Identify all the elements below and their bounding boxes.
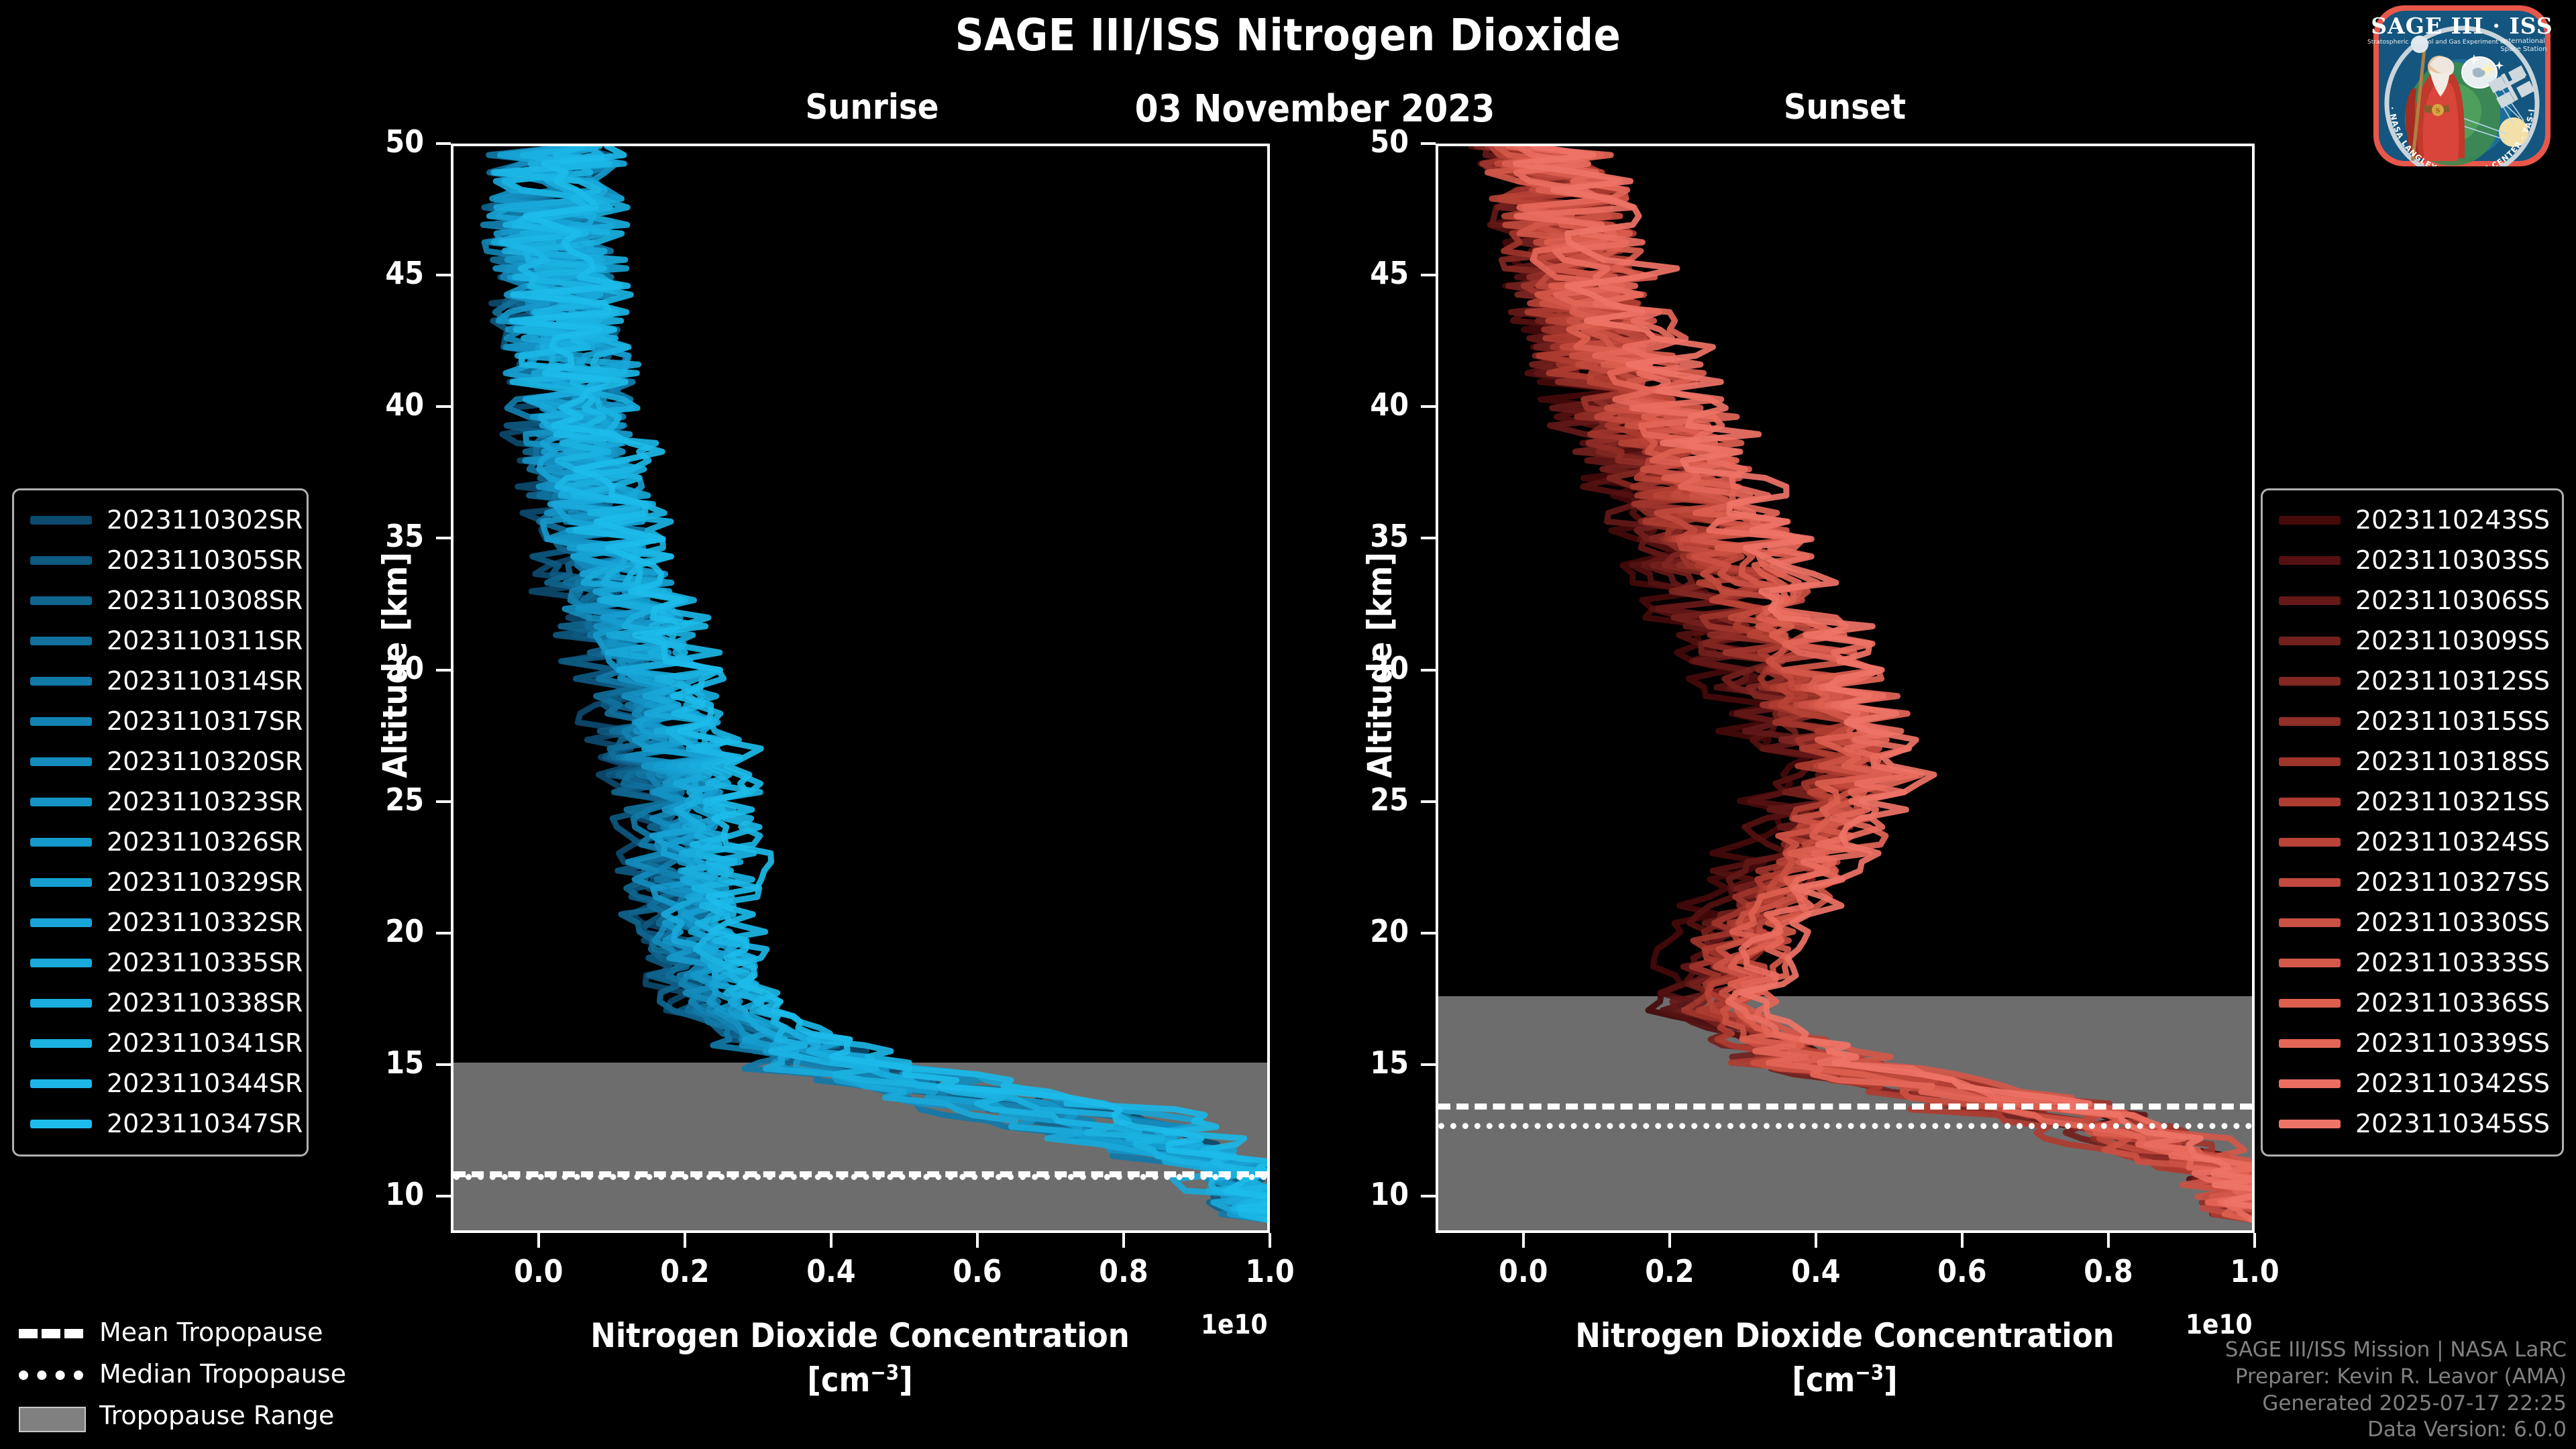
x-axis-tick [1961,1233,1964,1248]
tropopause-range-swatch-icon [19,1407,83,1424]
legend-event-label: 2023110347SR [107,1109,303,1138]
mean-tropopause-dash-icon [19,1324,83,1341]
legend-item-sunrise-event[interactable]: 2023110317SR [25,701,296,741]
y-axis-tick-label: 50 [1308,123,1409,160]
y-axis-tick [1421,142,1436,145]
legend-item-sunrise-event[interactable]: 2023110347SR [25,1104,296,1144]
svg-text:S: S [2436,108,2440,115]
y-axis-tick [436,932,451,934]
legend-color-swatch [30,757,92,766]
legend-color-swatch [2279,999,2341,1008]
sunset-x-axis-title: Nitrogen Dioxide Concentration [1442,1316,2247,1355]
y-axis-tick-label: 40 [323,386,424,423]
y-axis-tick [436,669,451,672]
y-axis-tick-label: 40 [1308,386,1409,423]
legend-item-sunset-event[interactable]: 2023110306SS [2273,580,2551,621]
legend-item-sunset-event[interactable]: 2023110318SS [2273,741,2551,782]
sunset-event-legend[interactable]: 2023110243SS2023110303SS2023110306SS2023… [2261,488,2564,1157]
legend-event-label: 2023110317SR [107,706,303,736]
legend-color-swatch [30,637,92,645]
legend-item-sunrise-event[interactable]: 2023110320SR [25,741,296,782]
legend-color-swatch [2279,556,2341,565]
y-axis-tick-label: 15 [1308,1044,1409,1081]
y-axis-tick-label: 35 [1308,518,1409,554]
legend-color-swatch [30,1079,92,1088]
patch-title: SAGE III · ISS [2371,13,2553,39]
x-axis-tick-label: 0.8 [1070,1253,1177,1289]
legend-color-swatch [30,798,92,806]
legend-event-label: 2023110330SS [2355,908,2550,937]
legend-event-label: 2023110333SS [2355,948,2550,977]
y-axis-tick [436,537,451,539]
sunrise-x-axis-unit: [cm−3] [458,1360,1263,1399]
legend-event-label: 2023110341SR [107,1028,303,1058]
legend-event-label: 2023110323SR [107,787,303,816]
legend-event-label: 2023110312SS [2355,666,2550,696]
legend-item-tropopause-range[interactable]: Tropopause Range [12,1395,428,1436]
legend-color-swatch [30,556,92,565]
sunrise-x-axis-title: Nitrogen Dioxide Concentration [458,1316,1263,1355]
legend-item-sunrise-event[interactable]: 2023110332SR [25,902,296,943]
y-axis-tick [1421,405,1436,408]
x-axis-tick [1122,1233,1125,1248]
legend-item-sunset-event[interactable]: 2023110327SS [2273,862,2551,902]
legend-item-sunrise-event[interactable]: 2023110323SR [25,782,296,822]
legend-item-median-tropopause[interactable]: Median Tropopause [12,1353,428,1395]
x-axis-tick-label: 0.6 [924,1253,1031,1289]
legend-item-sunrise-event[interactable]: 2023110326SR [25,822,296,862]
sunrise-y-axis-title: Altitude [km] [376,552,415,778]
legend-item-sunrise-event[interactable]: 2023110344SR [25,1063,296,1104]
legend-color-swatch [2279,1039,2341,1048]
y-axis-tick-label: 50 [323,123,424,160]
x-axis-tick [1668,1233,1671,1248]
x-axis-tick [2107,1233,2110,1248]
legend-item-sunset-event[interactable]: 2023110330SS [2273,902,2551,943]
legend-color-swatch [2279,717,2341,726]
x-axis-tick-label: 0.8 [2055,1253,2162,1289]
y-axis-tick [436,1063,451,1066]
legend-event-label: 2023110303SS [2355,545,2550,575]
legend-event-label: 2023110320SR [107,747,303,776]
sunset-x-axis-offset: 1e10 [2186,1309,2253,1340]
legend-event-label: 2023110302SR [107,505,303,535]
legend-color-swatch [30,838,92,847]
legend-event-label: 2023110342SS [2355,1069,2550,1098]
sunrise-x-axis-offset: 1e10 [1201,1309,1268,1340]
y-axis-tick-label: 20 [323,913,424,949]
legend-label-median-tropopause: Median Tropopause [99,1359,346,1389]
credit-line-generated: Generated 2025-07-17 22:25 [2225,1391,2567,1417]
legend-color-swatch [2279,959,2341,967]
legend-item-sunset-event[interactable]: 2023110339SS [2273,1023,2551,1063]
legend-color-swatch [30,1120,92,1128]
x-axis-tick [1815,1233,1817,1248]
legend-event-label: 2023110321SS [2355,787,2550,816]
legend-item-sunrise-event[interactable]: 2023110302SR [25,500,296,540]
legend-color-swatch [2279,677,2341,686]
legend-color-swatch [2279,757,2341,766]
y-axis-tick [436,405,451,408]
y-axis-tick-label: 10 [323,1176,424,1212]
y-axis-tick [1421,932,1436,934]
x-axis-tick [976,1233,979,1248]
sunrise-median-tropopause-line [453,1174,1267,1180]
legend-color-swatch [30,878,92,887]
x-axis-tick [1269,1233,1271,1248]
legend-color-swatch [2279,516,2341,525]
y-axis-tick-label: 25 [1308,782,1409,818]
legend-color-swatch [30,596,92,605]
legend-event-label: 2023110311SR [107,626,303,655]
x-axis-tick [537,1233,540,1248]
legend-item-sunrise-event[interactable]: 2023110314SR [25,661,296,701]
sunset-panel-title: Sunset [1704,87,1986,127]
y-axis-tick [436,1195,451,1197]
x-axis-tick-label: 0.4 [777,1253,885,1289]
legend-color-swatch [30,717,92,726]
credits-block: SAGE III/ISS Mission | NASA LaRC Prepare… [2225,1337,2567,1444]
legend-event-label: 2023110339SS [2355,1028,2550,1058]
sunset-plot-area [1438,146,2252,1230]
legend-color-swatch [30,918,92,927]
legend-event-label: 2023110345SS [2355,1109,2550,1138]
sunrise-plot-area [453,146,1267,1230]
sage-iii-iss-mission-patch-logo: S BALL · NASA LANGLEY RESEARCH CENTER · … [2355,3,2569,167]
legend-event-label: 2023110308SR [107,586,303,615]
legend-color-swatch [2279,878,2341,887]
legend-item-mean-tropopause[interactable]: Mean Tropopause [12,1311,428,1353]
y-axis-tick-label: 45 [1308,255,1409,291]
y-axis-tick [436,142,451,145]
y-axis-tick-label: 25 [323,782,424,818]
legend-item-sunset-event[interactable]: 2023110324SS [2273,822,2551,862]
legend-event-label: 2023110335SR [107,948,303,977]
legend-event-label: 2023110329SR [107,867,303,897]
y-axis-tick-label: 20 [1308,913,1409,949]
sunset-median-tropopause-line [1438,1123,2252,1129]
legend-item-sunrise-event[interactable]: 2023110305SR [25,540,296,580]
y-axis-tick-label: 10 [1308,1176,1409,1212]
legend-color-swatch [30,516,92,525]
legend-event-label: 2023110332SR [107,908,303,937]
credit-line-version: Data Version: 6.0.0 [2225,1417,2567,1444]
legend-event-label: 2023110243SS [2355,505,2550,535]
legend-color-swatch [30,1039,92,1048]
legend-event-label: 2023110305SR [107,545,303,575]
sunset-mean-tropopause-line [1438,1104,2252,1110]
x-axis-tick-label: 0.0 [1470,1253,1577,1289]
legend-item-sunrise-event[interactable]: 2023110335SR [25,943,296,983]
y-axis-tick [1421,800,1436,803]
x-axis-tick [2253,1233,2256,1248]
legend-item-sunset-event[interactable]: 2023110336SS [2273,983,2551,1023]
x-axis-tick-label: 0.2 [631,1253,739,1289]
legend-event-label: 2023110314SR [107,666,303,696]
sunrise-event-legend[interactable]: 2023110302SR2023110305SR2023110308SR2023… [12,488,309,1157]
legend-label-mean-tropopause: Mean Tropopause [99,1318,323,1347]
x-axis-tick-label: 1.0 [2201,1253,2308,1289]
legend-item-sunset-event[interactable]: 2023110345SS [2273,1104,2551,1144]
sunset-x-axis-unit: [cm−3] [1442,1360,2247,1399]
credit-line-mission: SAGE III/ISS Mission | NASA LaRC [2225,1337,2567,1364]
legend-color-swatch [30,999,92,1008]
patch-subtitle-right-line1: International [2502,38,2545,45]
x-axis-tick-label: 0.0 [485,1253,592,1289]
y-axis-tick [1421,1063,1436,1066]
legend-color-swatch [2279,1120,2341,1128]
x-axis-tick [830,1233,833,1248]
legend-event-label: 2023110315SS [2355,706,2550,736]
sunrise-profile-traces [453,146,1267,1230]
legend-event-label: 2023110318SS [2355,747,2550,776]
legend-event-label: 2023110309SS [2355,626,2550,655]
x-axis-tick-label: 0.4 [1762,1253,1870,1289]
legend-color-swatch [2279,1079,2341,1088]
median-tropopause-dot-icon [19,1365,83,1383]
x-axis-tick-label: 0.2 [1616,1253,1723,1289]
patch-subtitle-left: Stratospheric Aerosol and Gas Experiment… [2367,38,2506,46]
legend-item-sunrise-event[interactable]: 2023110311SR [25,621,296,661]
x-axis-tick [684,1233,686,1248]
y-axis-tick [1421,537,1436,539]
legend-label-tropopause-range: Tropopause Range [99,1401,334,1430]
x-axis-tick-label: 0.6 [1909,1253,2016,1289]
legend-event-label: 2023110338SR [107,988,303,1018]
y-axis-tick [1421,669,1436,672]
y-axis-tick [1421,274,1436,276]
sunset-y-axis-title: Altitude [km] [1360,552,1399,778]
x-axis-tick [1522,1233,1525,1248]
legend-event-label: 2023110344SR [107,1069,303,1098]
tropopause-legend: Mean Tropopause Median Tropopause Tropop… [12,1311,428,1436]
legend-item-sunset-event[interactable]: 2023110309SS [2273,621,2551,661]
patch-subtitle-right-line2: Space Station [2500,46,2546,53]
sunrise-plot-panel [451,144,1270,1233]
legend-event-label: 2023110324SS [2355,827,2550,857]
legend-event-label: 2023110306SS [2355,586,2550,615]
legend-item-sunset-event[interactable]: 2023110321SS [2273,782,2551,822]
legend-color-swatch [2279,918,2341,927]
sunset-profile-traces [1438,146,2252,1230]
legend-event-label: 2023110336SS [2355,988,2550,1018]
legend-item-sunrise-event[interactable]: 2023110308SR [25,580,296,621]
legend-item-sunset-event[interactable]: 2023110333SS [2273,943,2551,983]
legend-color-swatch [30,677,92,686]
x-axis-tick-label: 1.0 [1216,1253,1324,1289]
sunrise-panel-title: Sunrise [731,87,1013,127]
y-axis-tick-label: 45 [323,255,424,291]
y-axis-tick [436,274,451,276]
legend-color-swatch [30,959,92,967]
legend-event-label: 2023110326SR [107,827,303,857]
legend-item-sunset-event[interactable]: 2023110303SS [2273,540,2551,580]
credit-line-preparer: Preparer: Kevin R. Leavor (AMA) [2225,1364,2567,1391]
legend-item-sunset-event[interactable]: 2023110315SS [2273,701,2551,741]
sunset-plot-panel [1436,144,2255,1233]
y-axis-tick [1421,1195,1436,1197]
legend-color-swatch [2279,596,2341,605]
page-title: SAGE III/ISS Nitrogen Dioxide [0,9,2576,61]
legend-item-sunset-event[interactable]: 2023110243SS [2273,500,2551,540]
legend-event-label: 2023110327SS [2355,867,2550,897]
legend-item-sunrise-event[interactable]: 2023110338SR [25,983,296,1023]
legend-item-sunset-event[interactable]: 2023110342SS [2273,1063,2551,1104]
y-axis-tick [436,800,451,803]
legend-color-swatch [2279,838,2341,847]
legend-item-sunrise-event[interactable]: 2023110329SR [25,862,296,902]
legend-item-sunrise-event[interactable]: 2023110341SR [25,1023,296,1063]
legend-color-swatch [2279,637,2341,645]
legend-color-swatch [2279,798,2341,806]
y-axis-tick-label: 35 [323,518,424,554]
legend-item-sunset-event[interactable]: 2023110312SS [2273,661,2551,701]
y-axis-tick-label: 15 [323,1044,424,1081]
